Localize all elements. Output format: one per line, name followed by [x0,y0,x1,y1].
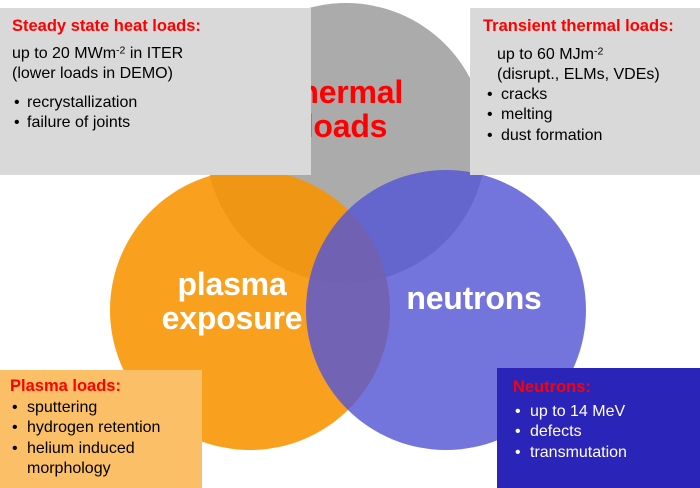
box-title-steady-state: Steady state heat loads: [12,17,301,36]
list-item: cracks [485,85,694,105]
list-item: melting [485,105,694,125]
box-line-transient-value: up to 60 MJm-2 [497,45,694,65]
box-line-steady-state-value: up to 20 MWm-2 in ITER [12,44,301,64]
list-item: recrystallization [12,93,301,113]
transient-value-prefix: up to 60 MJm [497,46,594,63]
list-item: hydrogen retention [10,418,198,438]
box-title-plasma-loads: Plasma loads: [10,377,198,396]
steady-state-value-exponent: -2 [116,45,125,57]
transient-value-exponent: -2 [594,46,603,58]
list-item: defects [513,422,696,442]
list-item: up to 14 MeV [513,402,696,422]
bullet-list-neutrons-loads: up to 14 MeV defects transmutation [513,402,696,463]
circle-label-neutrons: neutrons [374,282,574,316]
venn-diagram-figure: thermal loads plasma exposure neutrons S… [0,0,700,488]
info-box-transient-thermal-loads: Transient thermal loads: up to 60 MJm-2 … [470,8,700,175]
circle-label-plasma-exposure: plasma exposure [128,268,336,336]
info-box-neutrons-loads: Neutrons: up to 14 MeV defects transmuta… [497,368,700,488]
list-item: helium induced morphology [10,439,198,480]
box-line-transient-note: (disrupt., ELMs, VDEs) [497,65,694,85]
bullet-list-plasma-loads: sputtering hydrogen retention helium ind… [10,398,198,479]
info-box-steady-state-heat-loads: Steady state heat loads: up to 20 MWm-2 … [0,8,311,175]
info-box-plasma-loads: Plasma loads: sputtering hydrogen retent… [0,370,202,488]
list-item: failure of joints [12,113,301,133]
list-item: sputtering [10,398,198,418]
bullet-list-transient: cracks melting dust formation [485,85,694,146]
box-title-neutrons-loads: Neutrons: [513,378,696,397]
bullet-list-steady-state: recrystallization failure of joints [12,93,301,134]
box-line-steady-state-note: (lower loads in DEMO) [12,64,301,84]
steady-state-value-prefix: up to 20 MWm [12,45,116,62]
list-item: dust formation [485,126,694,146]
list-item: transmutation [513,443,696,463]
box-title-transient: Transient thermal loads: [483,17,694,36]
steady-state-value-suffix: in ITER [125,45,183,62]
